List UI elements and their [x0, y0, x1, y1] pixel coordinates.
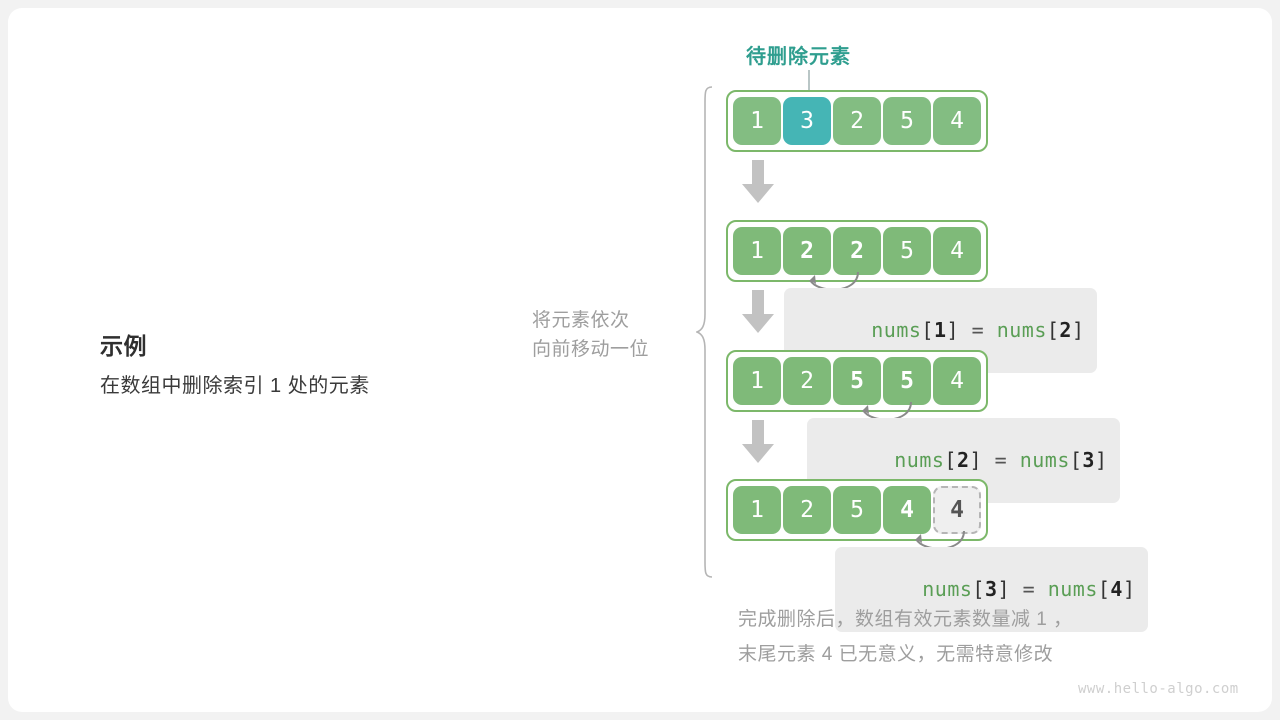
code-target-index: 2	[957, 448, 970, 472]
grouping-brace-icon	[696, 86, 714, 578]
array-cell: 2	[783, 357, 831, 405]
array-cell: 2	[833, 227, 881, 275]
move-note-line-1: 将元素依次	[532, 306, 692, 335]
array-cell: 2	[833, 97, 881, 145]
code-source-name: nums	[1048, 577, 1098, 601]
code-source-name: nums	[1020, 448, 1070, 472]
code-operator: =	[972, 318, 985, 342]
example-subtitle: 在数组中删除索引 1 处的元素	[100, 371, 490, 401]
array-cell: 1	[733, 227, 781, 275]
code-target-name: nums	[871, 318, 921, 342]
example-block: 示例 在数组中删除索引 1 处的元素	[100, 330, 490, 401]
array-cell: 5	[883, 357, 931, 405]
down-arrow-icon	[741, 290, 775, 334]
array-cell: 4	[933, 227, 981, 275]
array-cell: 1	[733, 357, 781, 405]
down-arrow-icon	[741, 420, 775, 464]
array-cell: 5	[883, 227, 931, 275]
array-cell: 2	[783, 486, 831, 534]
move-note-line-2: 向前移动一位	[532, 335, 692, 364]
code-target-index: 3	[985, 577, 998, 601]
array-cell: 5	[833, 357, 881, 405]
array-cell: 4	[933, 357, 981, 405]
site-watermark: www.hello-algo.com	[1078, 681, 1239, 697]
array-cell-highlighted: 3	[783, 97, 831, 145]
code-target-name: nums	[894, 448, 944, 472]
code-target-index: 1	[934, 318, 947, 342]
down-arrow-icon	[741, 160, 775, 204]
code-source-index: 3	[1082, 448, 1095, 472]
code-target-name: nums	[922, 577, 972, 601]
bottom-caption-line-1: 完成删除后，数组有效元素数量减 1 ，	[738, 602, 1208, 637]
code-operator: =	[995, 448, 1008, 472]
code-source-index: 4	[1110, 577, 1123, 601]
array-cell: 4	[933, 97, 981, 145]
code-operator: =	[1023, 577, 1036, 601]
bottom-caption-line-2: 末尾元素 4 已无意义，无需特意修改	[738, 637, 1208, 672]
example-title: 示例	[100, 330, 490, 363]
array-row-initial: 1 3 2 5 4	[726, 90, 988, 152]
array-cell: 5	[883, 97, 931, 145]
array-cell: 1	[733, 97, 781, 145]
bottom-caption: 完成删除后，数组有效元素数量减 1 ， 末尾元素 4 已无意义，无需特意修改	[738, 602, 1208, 672]
array-cell: 2	[783, 227, 831, 275]
page-background: 示例 在数组中删除索引 1 处的元素 将元素依次 向前移动一位 待删除元素 1 …	[0, 0, 1280, 720]
array-cell: 4	[883, 486, 931, 534]
array-cell: 5	[833, 486, 881, 534]
code-source-index: 2	[1059, 318, 1072, 342]
to-delete-label: 待删除元素	[746, 40, 851, 69]
code-source-name: nums	[997, 318, 1047, 342]
array-cell-invalid: 4	[933, 486, 981, 534]
move-elements-note: 将元素依次 向前移动一位	[532, 306, 692, 365]
diagram-card: 示例 在数组中删除索引 1 处的元素 将元素依次 向前移动一位 待删除元素 1 …	[8, 8, 1272, 712]
array-cell: 1	[733, 486, 781, 534]
